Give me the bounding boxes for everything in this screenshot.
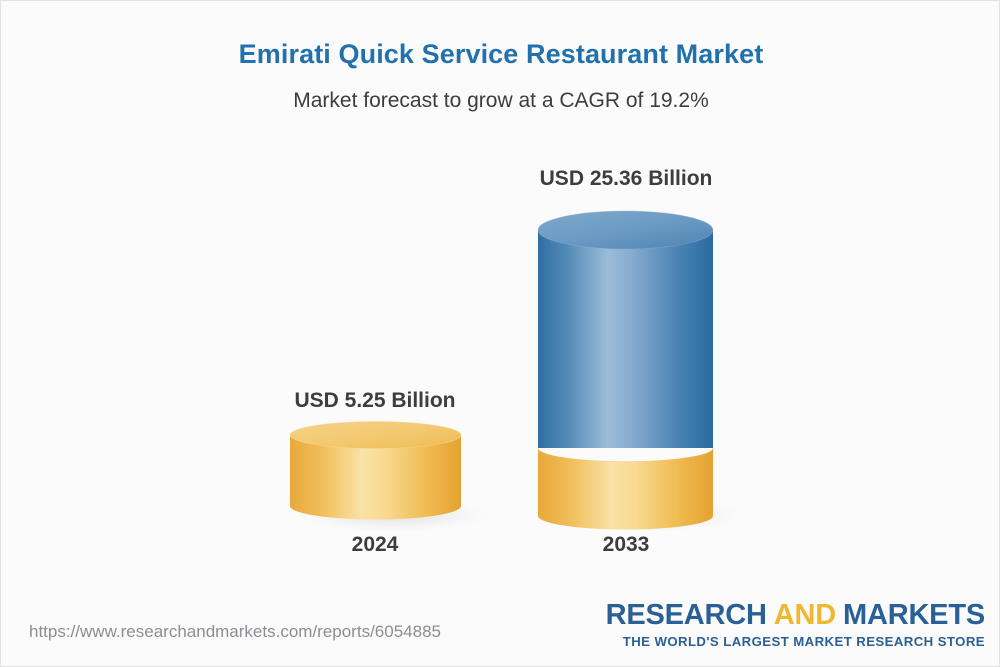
report-url[interactable]: https://www.researchandmarkets.com/repor… xyxy=(29,622,441,642)
cylinder-2033-base-segment xyxy=(538,448,713,530)
data-label-2033: USD 25.36 Billion xyxy=(486,167,766,191)
research-and-markets-logo[interactable]: RESEARCHANDMARKETS THE WORLD'S LARGEST M… xyxy=(606,601,985,648)
bar-group-2033: USD 25.36 Billion xyxy=(1,1,1000,601)
plot-area: USD 5.25 Billion xyxy=(1,1,1000,601)
category-label-2033: 2033 xyxy=(526,533,726,557)
logo-word-markets: MARKETS xyxy=(843,599,985,631)
logo-word-and: AND xyxy=(774,599,836,631)
logo-tagline: THE WORLD'S LARGEST MARKET RESEARCH STOR… xyxy=(606,635,985,648)
logo-word-research: RESEARCH xyxy=(606,599,767,631)
logo-wordmark: RESEARCHANDMARKETS xyxy=(606,601,985,630)
chart-canvas: Emirati Quick Service Restaurant Market … xyxy=(0,0,1000,667)
cylinder-2033[interactable] xyxy=(534,204,739,529)
